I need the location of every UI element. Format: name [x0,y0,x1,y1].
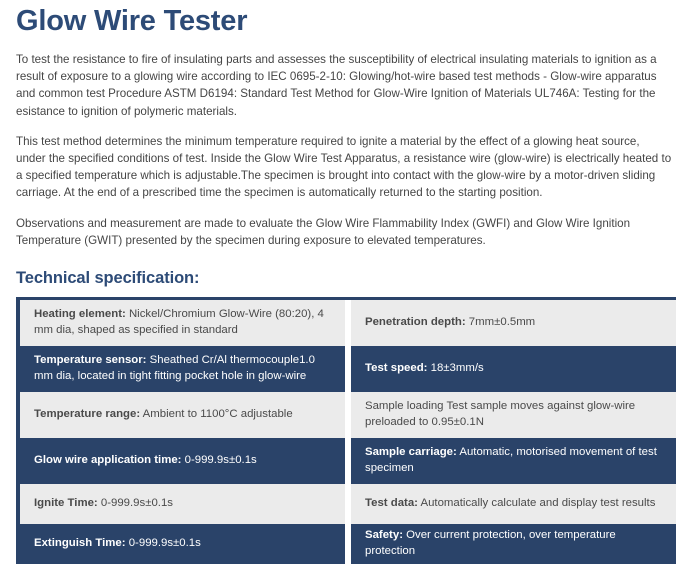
spec-row-key: Temperature sensor: [34,354,146,366]
spec-row-value: 0-999.9s±0.1s [181,454,256,466]
spec-table-wrapper: Heating element: Nickel/Chromium Glow-Wi… [16,297,676,564]
spec-row: Test speed: 18±3mm/s [351,346,676,392]
spec-row: Temperature range: Ambient to 1100°C adj… [20,392,345,438]
spec-row-key: Temperature range: [34,408,140,420]
spec-row: Sample loading Test sample moves against… [351,392,676,438]
spec-row: Penetration depth: 7mm±0.5mm [351,300,676,346]
spec-row-value: Over current protection, over temperatur… [365,529,616,557]
spec-row-value: Sample loading Test sample moves against… [365,400,635,428]
spec-row-value: 0-999.9s±0.1s [126,537,201,549]
spec-row-key: Extinguish Time: [34,537,126,549]
spec-table-right-column: Penetration depth: 7mm±0.5mmTest speed: … [351,300,676,564]
spec-row-value: 0-999.9s±0.1s [98,497,173,509]
spec-row-value: 18±3mm/s [427,362,483,374]
intro-paragraph-2: This test method determines the minimum … [16,120,672,202]
spec-row: Ignite Time: 0-999.9s±0.1s [20,484,345,524]
spec-row-key: Heating element: [34,308,126,320]
intro-paragraph-3: Observations and measurement are made to… [16,202,672,249]
spec-row-key: Ignite Time: [34,497,98,509]
spec-row: Glow wire application time: 0-999.9s±0.1… [20,438,345,484]
section-title-technical-specification: Technical specification: [16,249,672,297]
spec-row: Sample carriage: Automatic, motorised mo… [351,438,676,484]
specification-table: Heating element: Nickel/Chromium Glow-Wi… [20,297,676,564]
spec-row-key: Glow wire application time: [34,454,181,466]
spec-row: Heating element: Nickel/Chromium Glow-Wi… [20,300,345,346]
spec-row-value: Ambient to 1100°C adjustable [140,408,293,420]
document-page: Glow Wire Tester To test the resistance … [0,0,688,530]
intro-paragraph-1: To test the resistance to fire of insula… [16,38,672,120]
spec-row-key: Test speed: [365,362,427,374]
spec-row-key: Safety: [365,529,403,541]
spec-row-key: Penetration depth: [365,316,466,328]
spec-row-key: Sample carriage: [365,446,457,458]
page-title: Glow Wire Tester [16,0,672,38]
spec-row: Test data: Automatically calculate and d… [351,484,676,524]
spec-row-value: 7mm±0.5mm [466,316,536,328]
spec-row-key: Test data: [365,497,418,509]
spec-table-left-column: Heating element: Nickel/Chromium Glow-Wi… [20,300,345,564]
spec-row-value: Automatically calculate and display test… [418,497,655,509]
spec-row: Temperature sensor: Sheathed Cr/Al therm… [20,346,345,392]
